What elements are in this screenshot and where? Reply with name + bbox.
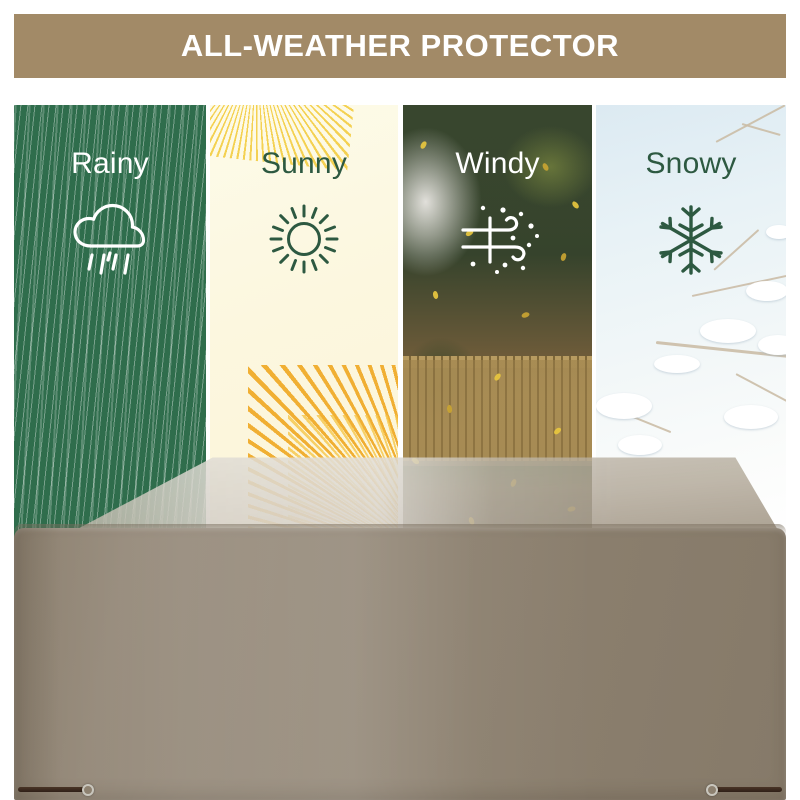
weather-label-sunny: Sunny [210,147,398,181]
corner-strap-left [18,787,86,792]
header-banner: ALL-WEATHER PROTECTOR [14,14,786,78]
sun-icon [265,200,343,283]
cloud-rain-icon [67,200,153,287]
weather-label-snowy: Snowy [596,147,786,181]
corner-grommet-left [82,784,94,796]
cover-left-panel [14,528,60,800]
weather-label-windy: Windy [403,147,592,181]
product-marketing-image: ALL-WEATHER PROTECTOR Rainy [0,0,800,800]
corner-grommet-right [706,784,718,796]
wind-icon [453,200,543,281]
cover-front-highlight [14,528,786,800]
corner-strap-right [714,787,782,792]
weather-label-rainy: Rainy [14,147,206,181]
product-furniture-cover [0,452,800,800]
snowflake-icon [652,200,730,285]
page-title: ALL-WEATHER PROTECTOR [181,28,619,64]
